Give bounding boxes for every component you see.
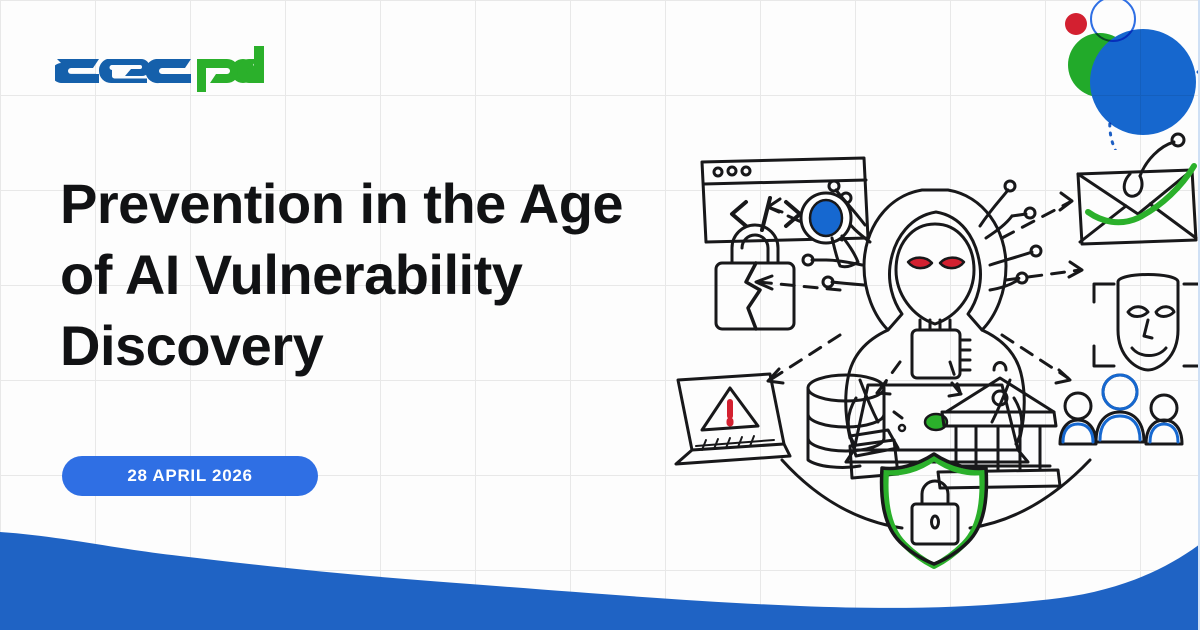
blue-circle-shape [1090,29,1196,135]
hood-shape [864,190,1006,330]
event-date-badge[interactable]: 28 APRIL 2026 [62,456,318,496]
cpu-chip [912,320,970,378]
face-shape [896,224,974,324]
secpod-logo-mark [55,46,270,92]
bottom-wave [0,500,1200,630]
page-title: Prevention in the Age of AI Vulnerabilit… [60,168,720,381]
red-dot-shape [1065,13,1087,35]
page-title-line-3: Discovery [60,310,720,381]
secpod-logo[interactable] [55,46,270,92]
banner-canvas: Prevention in the Age of AI Vulnerabilit… [0,0,1200,630]
phishing-email-icon [1078,134,1196,244]
left-eye [908,258,932,269]
code-inspection-icon [702,158,868,267]
corner-decoration [1038,0,1198,150]
right-eye [940,258,964,269]
people-group-icon [1060,375,1182,444]
magnifier-lens [810,200,842,236]
page-title-line-1: Prevention in the Age [60,168,720,239]
page-title-line-2: of AI Vulnerability [60,239,720,310]
deepfake-face-icon [1094,275,1200,371]
wave-shape [0,532,1200,630]
event-date-label: 28 APRIL 2026 [127,466,252,486]
circuit-tendrils-right [980,181,1041,290]
warning-laptop-icon [676,374,790,464]
ai-threat-illustration [650,130,1200,550]
